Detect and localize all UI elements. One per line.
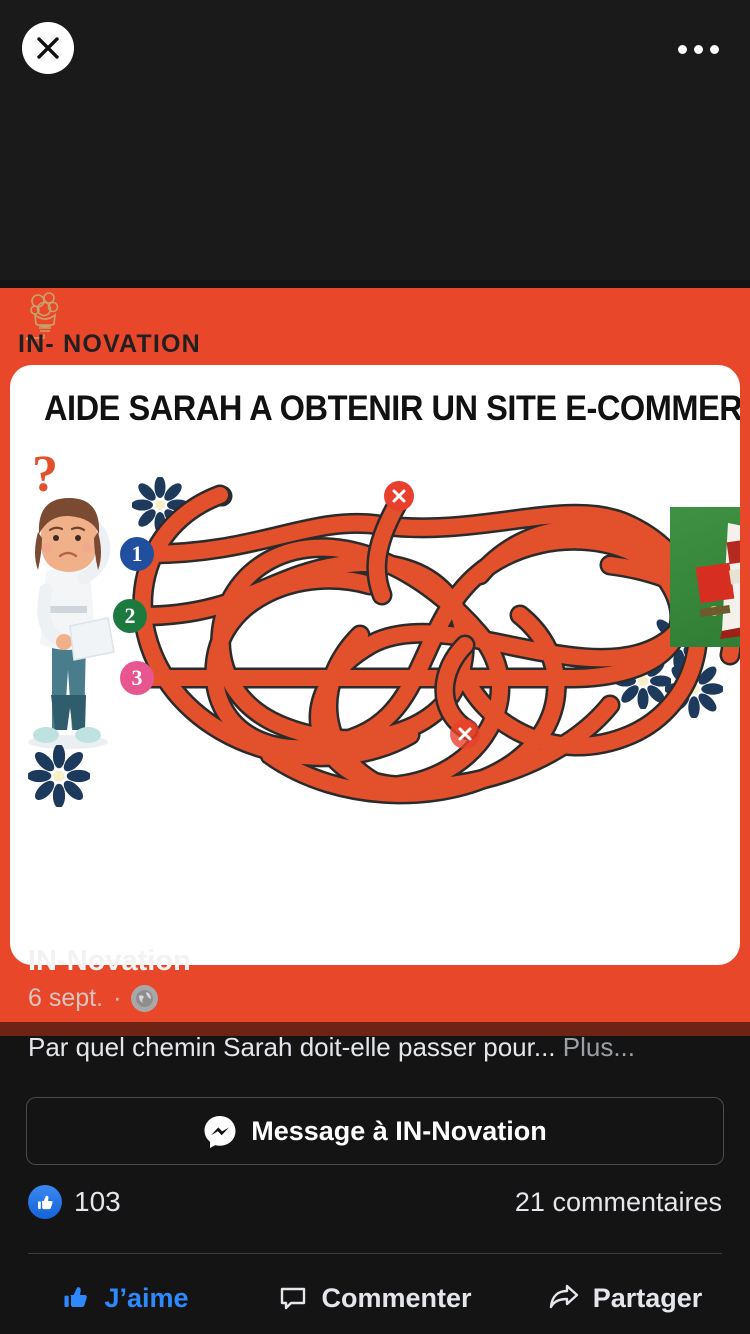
more-options-button[interactable] bbox=[668, 34, 728, 64]
comments-count[interactable]: 21 commentaires bbox=[515, 1187, 722, 1218]
close-icon bbox=[35, 35, 61, 61]
share-button[interactable]: Partager bbox=[500, 1262, 750, 1334]
facebook-post-viewer: IN- NOVATION AIDE SARAH A OBTENIR UN SIT… bbox=[0, 0, 750, 1334]
see-more-link[interactable]: Plus... bbox=[563, 1032, 635, 1062]
more-dot bbox=[678, 45, 687, 54]
brand-wordmark-left: IN bbox=[18, 330, 45, 358]
close-button[interactable] bbox=[22, 22, 74, 74]
divider bbox=[28, 1253, 722, 1254]
brand-wordmark-dash: - bbox=[45, 330, 55, 358]
messenger-icon bbox=[203, 1114, 237, 1148]
like-count: 103 bbox=[74, 1186, 121, 1218]
top-bar bbox=[0, 0, 750, 280]
thumbs-up-icon bbox=[61, 1283, 91, 1313]
action-bar: J’aime Commenter Partager bbox=[0, 1262, 750, 1334]
share-button-label: Partager bbox=[593, 1283, 703, 1314]
engagement-summary: 103 21 commentaires bbox=[28, 1185, 722, 1237]
more-dot bbox=[710, 45, 719, 54]
dead-end-x-icon bbox=[450, 719, 480, 749]
dead-end-x-icon bbox=[384, 481, 414, 511]
brand-wordmark-right: NOVATION bbox=[63, 330, 201, 358]
tangled-maze-paths bbox=[10, 455, 740, 965]
brand-logo: IN- NOVATION bbox=[10, 288, 270, 368]
maze-start-1[interactable]: 1 bbox=[120, 537, 154, 571]
more-dot bbox=[694, 45, 703, 54]
message-page-button[interactable]: Message à IN-Novation bbox=[26, 1097, 724, 1165]
post-meta: 6 sept. · bbox=[28, 984, 158, 1013]
comment-button-label: Commenter bbox=[321, 1283, 471, 1314]
meta-separator: · bbox=[113, 984, 121, 1013]
message-button-label: Message à IN-Novation bbox=[251, 1116, 547, 1147]
page-name[interactable]: IN-Novation bbox=[28, 945, 428, 978]
caption-text: Par quel chemin Sarah doit-elle passer p… bbox=[28, 1032, 556, 1062]
maze-start-3[interactable]: 3 bbox=[120, 661, 154, 695]
reactions-summary[interactable]: 103 bbox=[28, 1185, 121, 1219]
share-arrow-icon bbox=[548, 1283, 580, 1313]
maze-scene: ? bbox=[10, 455, 740, 965]
globe-public-icon bbox=[131, 985, 158, 1012]
like-reaction-badge-icon bbox=[28, 1185, 62, 1219]
page-title: AIDE SARAH A OBTENIR UN SITE E-COMMERCE bbox=[44, 389, 676, 429]
maze-start-2[interactable]: 2 bbox=[113, 599, 147, 633]
comment-button[interactable]: Commenter bbox=[250, 1262, 500, 1334]
ecommerce-website-photo bbox=[670, 507, 740, 647]
puzzle-card: AIDE SARAH A OBTENIR UN SITE E-COMMERCE … bbox=[10, 365, 740, 965]
post-caption[interactable]: Par quel chemin Sarah doit-elle passer p… bbox=[28, 1032, 728, 1072]
comment-bubble-icon bbox=[278, 1283, 308, 1313]
post-media[interactable]: IN- NOVATION AIDE SARAH A OBTENIR UN SIT… bbox=[0, 288, 750, 1022]
like-button[interactable]: J’aime bbox=[0, 1262, 250, 1334]
post-date: 6 sept. bbox=[28, 984, 103, 1013]
like-button-label: J’aime bbox=[104, 1283, 188, 1314]
brand-wordmark: IN- NOVATION bbox=[18, 330, 201, 359]
